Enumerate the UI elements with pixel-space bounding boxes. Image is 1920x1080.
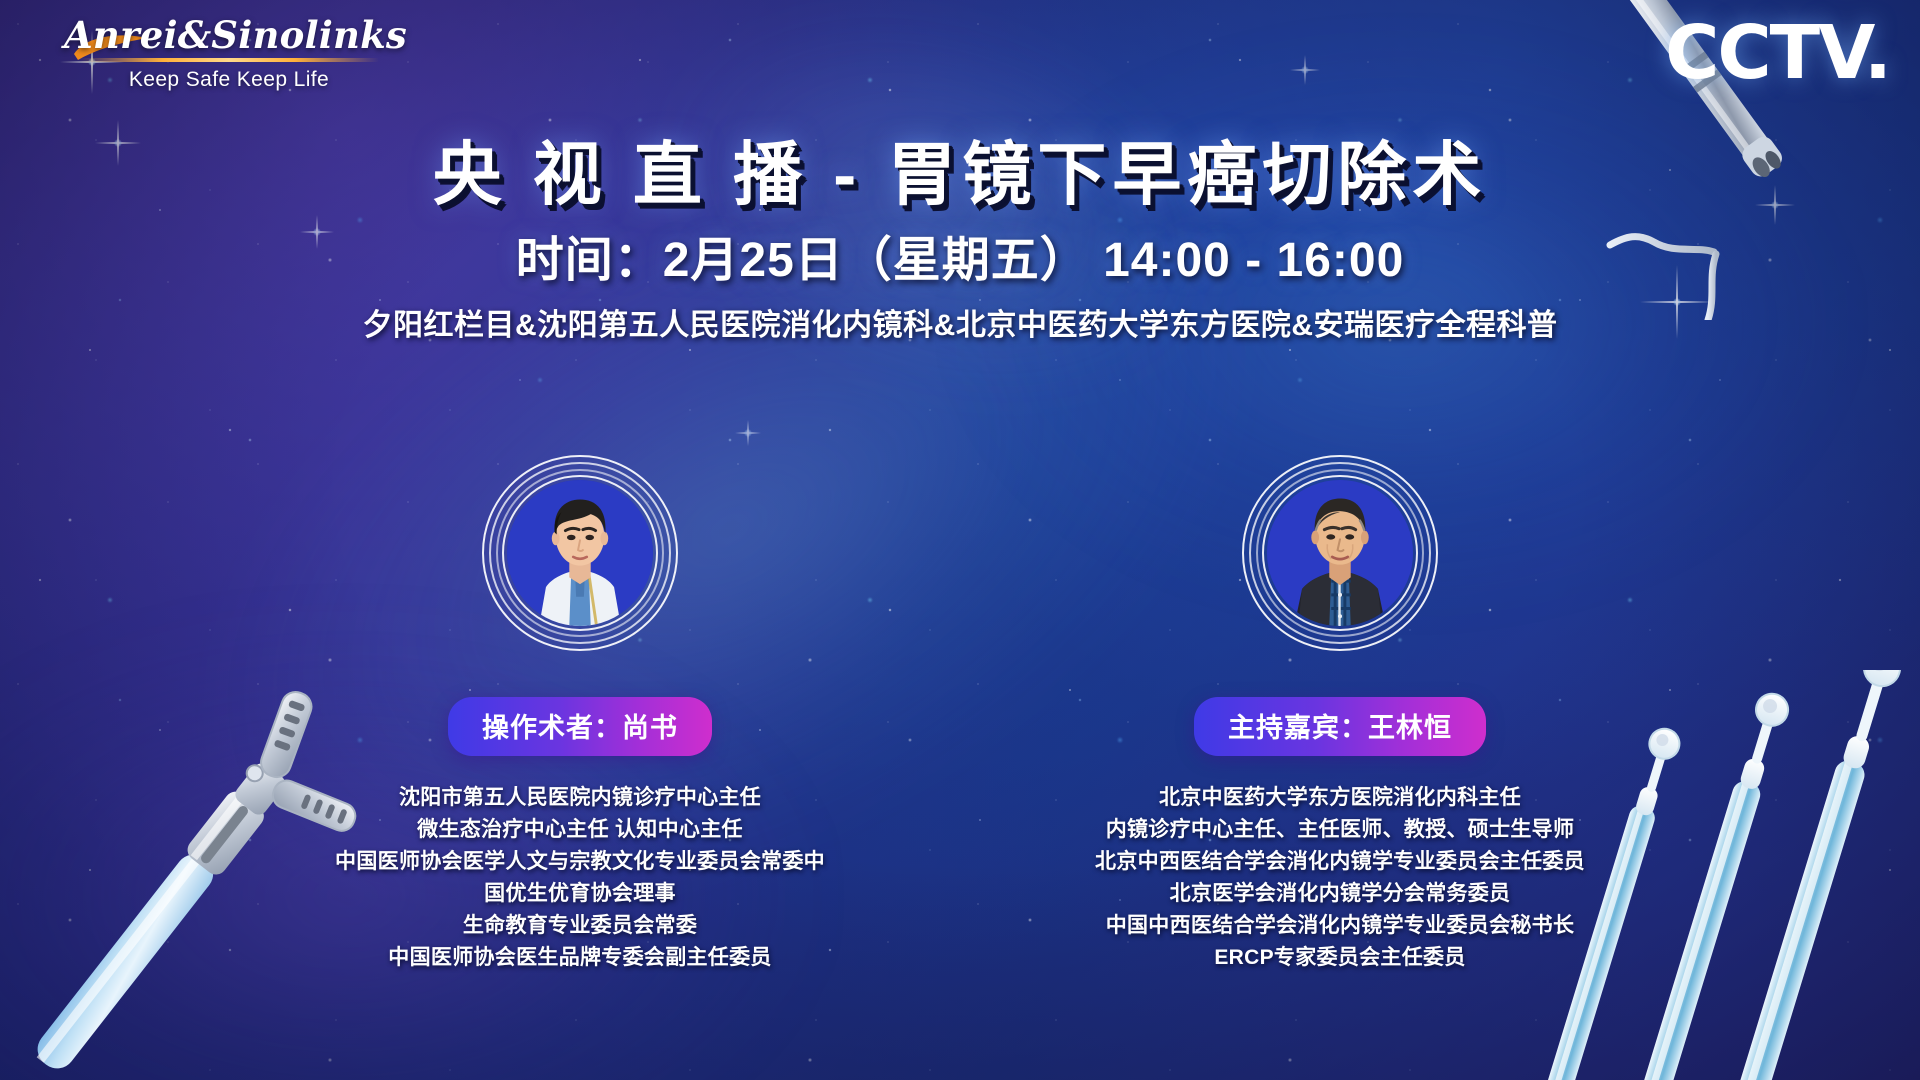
bio-line: ERCP专家委员会主任委员 [1095, 942, 1585, 974]
bio-line: 北京医学会消化内镜学分会常务委员 [1095, 878, 1585, 910]
bio-line: 内镜诊疗中心主任、主任医师、教授、硕士生导师 [1095, 814, 1585, 846]
event-time: 时间：2月25日（星期五） 14:00 - 16:00 [0, 237, 1920, 285]
bio-line: 北京中西医结合学会消化内镜学专业委员会主任委员 [1095, 846, 1585, 878]
bio-line: 中国医师协会医学人文与宗教文化专业委员会常委中 [335, 846, 825, 878]
brand-logo: Anrei&Sinolinks Keep Safe Keep Life [64, 16, 394, 92]
speaker-bio: 北京中医药大学东方医院消化内科主任 内镜诊疗中心主任、主任医师、教授、硕士生导师… [1095, 782, 1585, 973]
speakers-section: 操作术者：尚书 沈阳市第五人民医院内镜诊疗中心主任 微生态治疗中心主任 认知中心… [0, 455, 1920, 1035]
speaker-card: 操作术者：尚书 沈阳市第五人民医院内镜诊疗中心主任 微生态治疗中心主任 认知中心… [200, 455, 960, 973]
page-title: 央 视 直 播 - 胃镜下早癌切除术 [0, 140, 1920, 209]
speaker-card: 主持嘉宾：王林恒 北京中医药大学东方医院消化内科主任 内镜诊疗中心主任、主任医师… [960, 455, 1720, 973]
avatar-photo-operator [507, 480, 653, 626]
status-badge: 操作术者：尚书 [448, 697, 712, 756]
brand-logo-text: Anrei&Sinolinks [64, 16, 394, 55]
livestream-poster: Anrei&Sinolinks Keep Safe Keep Life CCTV… [0, 0, 1920, 1080]
cctv-logo: CCTV. [1665, 16, 1890, 90]
bio-line: 中国中西医结合学会消化内镜学专业委员会秘书长 [1095, 910, 1585, 942]
event-subtitle: 夕阳红栏目&沈阳第五人民医院消化内镜科&北京中医药大学东方医院&安瑞医疗全程科普 [0, 311, 1920, 341]
speaker-bio: 沈阳市第五人民医院内镜诊疗中心主任 微生态治疗中心主任 认知中心主任 中国医师协… [335, 782, 825, 973]
bio-line: 微生态治疗中心主任 认知中心主任 [335, 814, 825, 846]
bio-line: 生命教育专业委员会常委 [335, 910, 825, 942]
brand-tagline: Keep Safe Keep Life [64, 68, 394, 92]
bio-line: 沈阳市第五人民医院内镜诊疗中心主任 [335, 782, 825, 814]
avatar [1242, 455, 1438, 651]
avatar-photo-host [1267, 480, 1413, 626]
title-section: 央 视 直 播 - 胃镜下早癌切除术 时间：2月25日（星期五） 14:00 -… [0, 140, 1920, 341]
bio-line: 北京中医药大学东方医院消化内科主任 [1095, 782, 1585, 814]
avatar [482, 455, 678, 651]
bio-line: 中国医师协会医生品牌专委会副主任委员 [335, 942, 825, 974]
status-badge: 主持嘉宾：王林恒 [1194, 697, 1486, 756]
bio-line: 国优生优育协会理事 [335, 878, 825, 910]
